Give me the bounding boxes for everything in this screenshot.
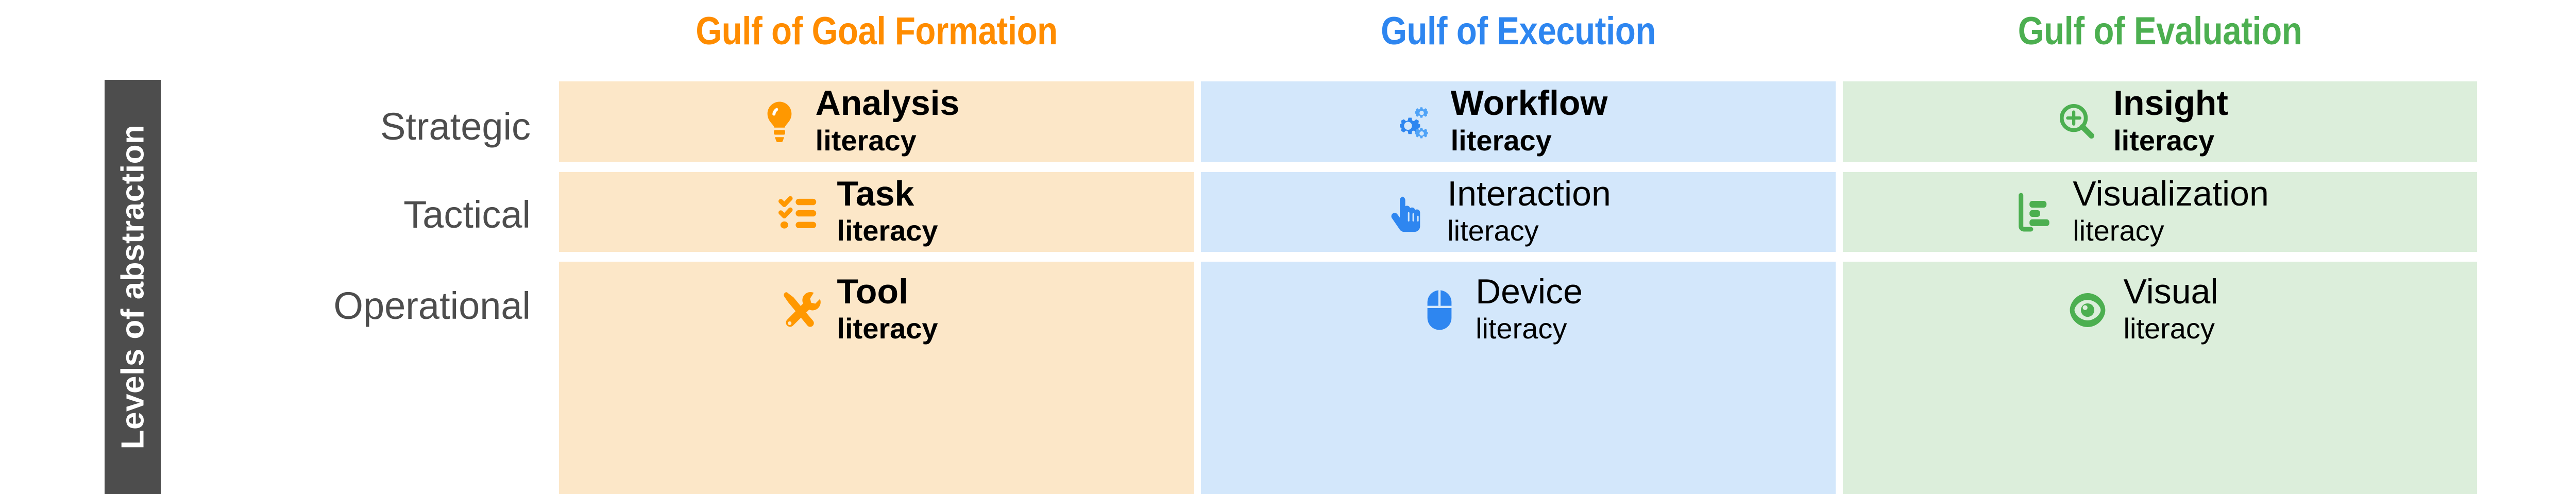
cell-title: Interaction [1447,176,1611,212]
cell-title: Device [1476,274,1583,310]
mouse-icon [1417,282,1462,338]
cell-tactical-goal-formation: Task literacy [559,172,1194,252]
cell-tactical-execution: Interaction literacy [1201,172,1836,252]
bar-chart-icon [2014,184,2059,240]
cell-subtitle: literacy [2073,214,2269,248]
column-header-execution: Gulf of Execution [1245,9,1791,54]
cell-operational-execution: Device literacy [1201,262,1836,494]
cell-strategic-goal-formation: Analysis literacy [559,81,1194,162]
column-header-evaluation: Gulf of Evaluation [1887,9,2433,54]
cell-subtitle: literacy [2113,124,2228,158]
cell-title: Visual [2124,274,2218,310]
cell-strategic-execution: Workflow literacy [1201,81,1836,162]
eye-icon [2065,282,2110,338]
levels-of-abstraction-axis: Levels of abstraction [105,80,161,494]
cell-tactical-evaluation: Visualization literacy [1843,172,2477,252]
pointing-hand-icon [1388,184,1434,240]
cell-subtitle: literacy [2124,312,2218,346]
cell-subtitle: literacy [1447,214,1611,248]
cell-title: Visualization [2073,176,2269,212]
cell-title: Analysis [816,86,960,121]
column-header-goal-formation: Gulf of Goal Formation [603,9,1149,54]
zoom-in-icon [2055,94,2100,149]
cell-strategic-evaluation: Insight literacy [1843,81,2477,162]
lightbulb-icon [757,94,802,149]
cell-title: Tool [837,274,938,310]
cell-subtitle: literacy [1451,124,1608,158]
cell-title: Insight [2113,86,2228,121]
cell-subtitle: literacy [837,312,938,346]
cell-title: Task [837,176,938,212]
row-label-strategic: Strategic [170,105,531,148]
cell-subtitle: literacy [816,124,960,158]
gears-icon [1392,94,1437,149]
cell-operational-goal-formation: Tool literacy [559,262,1194,494]
cell-operational-evaluation: Visual literacy [1843,262,2477,494]
axis-label-text: Levels of abstraction [114,125,151,450]
cell-subtitle: literacy [1476,312,1583,346]
row-label-operational: Operational [170,284,531,328]
tools-icon [778,282,823,338]
row-label-tactical: Tactical [170,193,531,236]
literacy-matrix-figure: Gulf of Goal Formation Gulf of Execution… [0,0,2576,494]
checklist-icon [778,184,823,240]
cell-title: Workflow [1451,86,1608,121]
cell-subtitle: literacy [837,214,938,248]
